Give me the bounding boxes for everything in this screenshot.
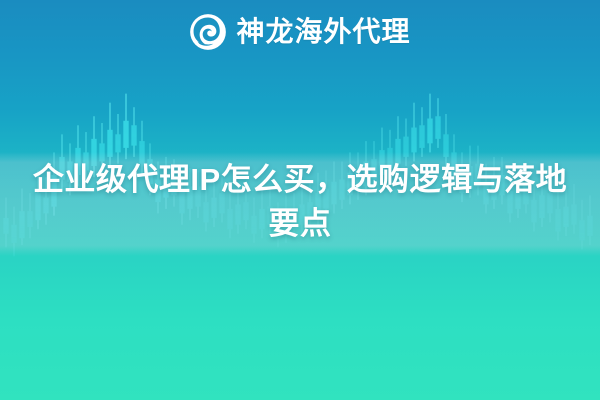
page-title: 企业级代理IP怎么买，选购逻辑与落地要点: [24, 158, 576, 246]
logo: 神龙海外代理: [0, 0, 600, 64]
banner-cover: 神龙海外代理 企业级代理IP怎么买，选购逻辑与落地要点: [0, 0, 600, 400]
page-title-line-1: 企业级代理IP怎么买，选购逻辑与落: [33, 162, 536, 197]
dragon-swirl-icon: [189, 13, 227, 51]
logo-text: 神龙海外代理: [236, 18, 410, 46]
